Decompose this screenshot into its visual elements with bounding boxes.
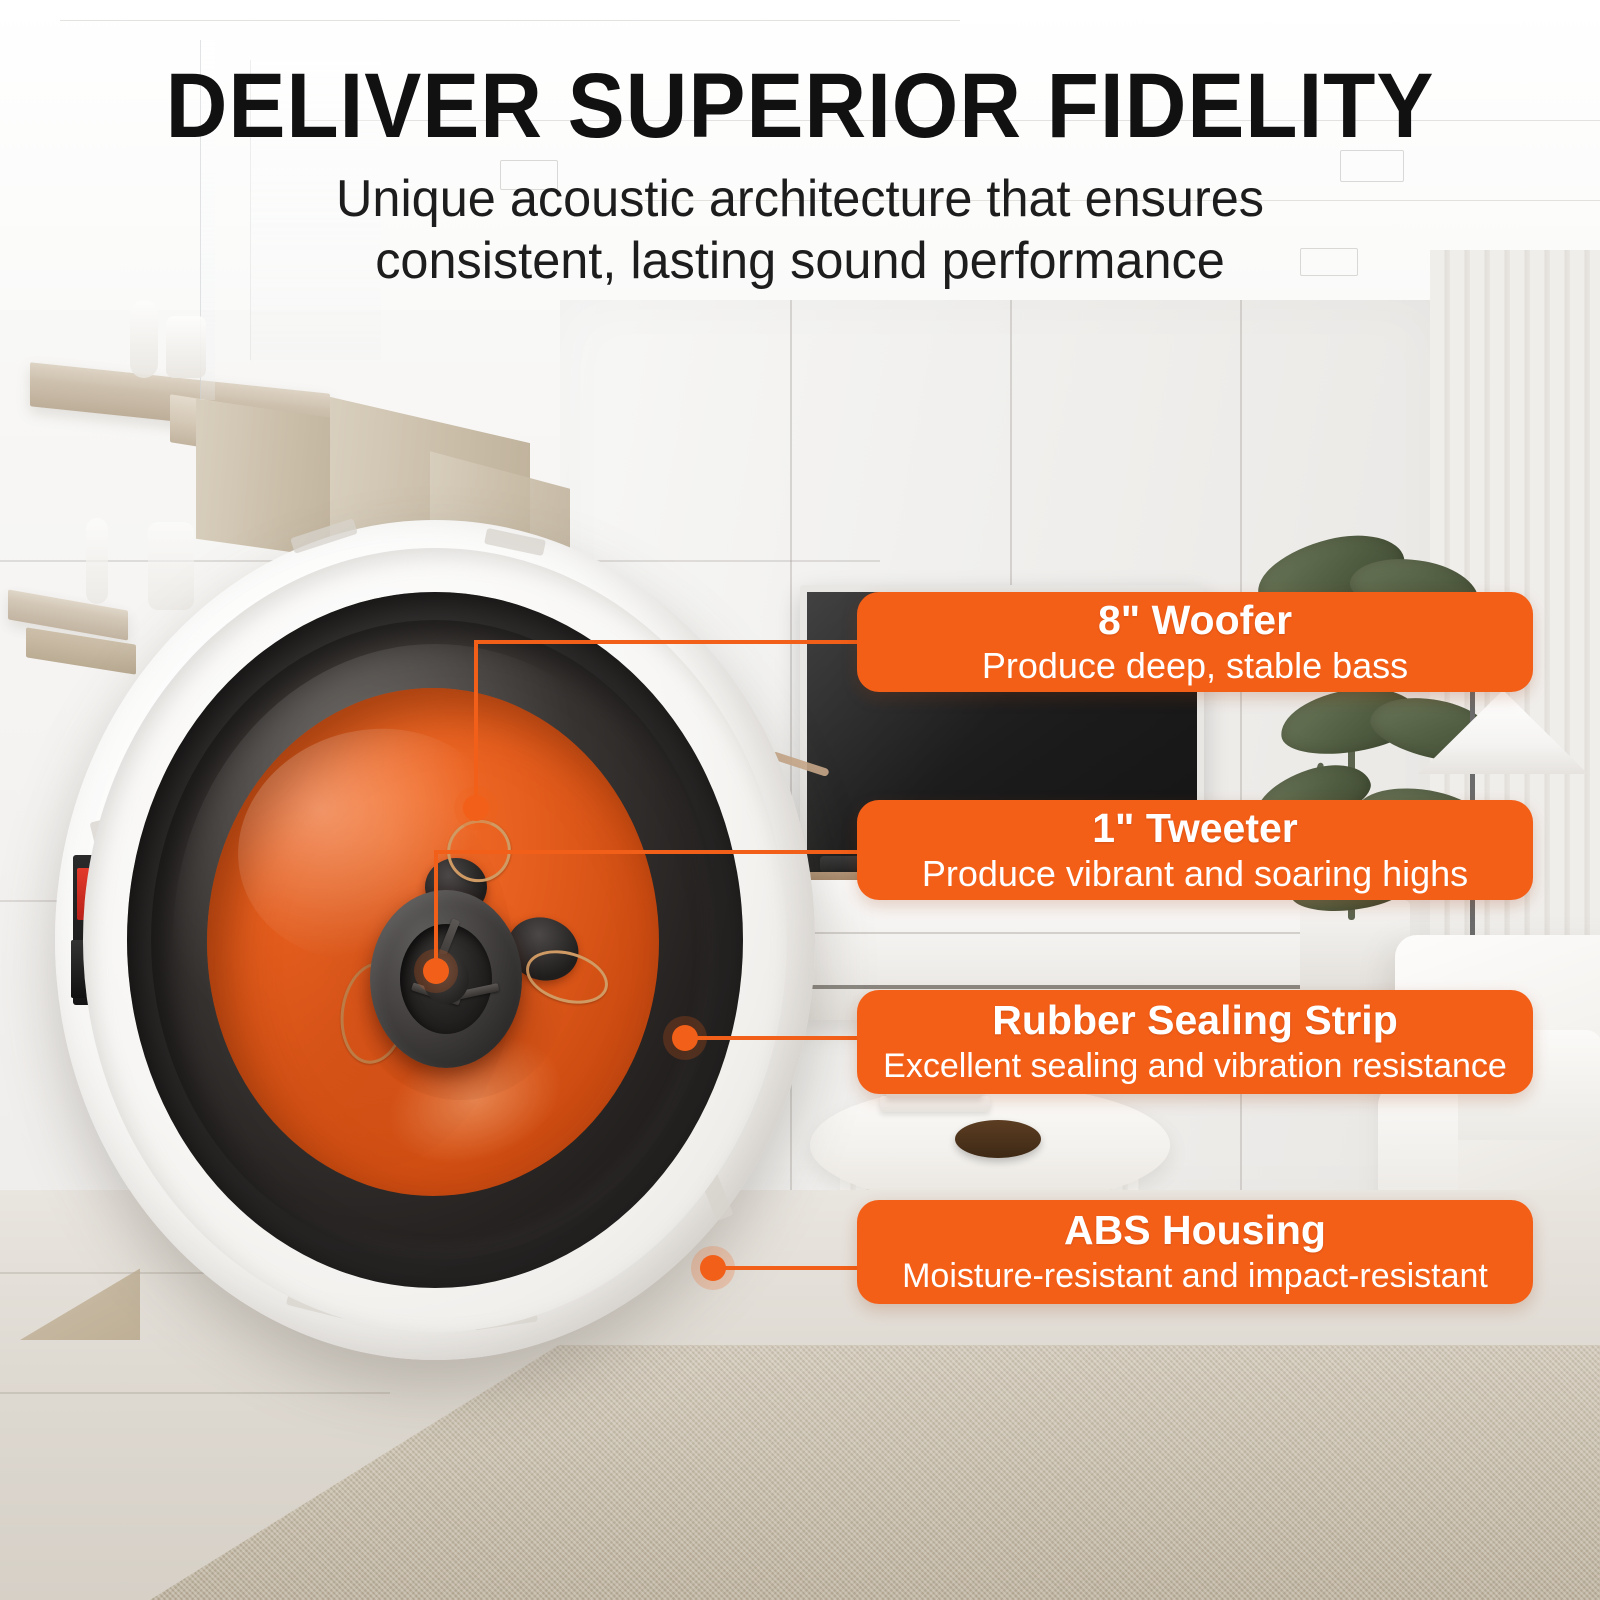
marker-dot-woofer [463, 795, 489, 821]
page-subtitle-line-1: Unique acoustic architecture that ensure… [24, 168, 1576, 230]
leader-line-abs-housing [718, 1266, 870, 1270]
shelf-decor-vase [130, 300, 158, 378]
leader-line-tweeter-horizontal [434, 850, 864, 854]
callout-rubber-sealing-strip[interactable]: Rubber Sealing Strip Excellent sealing a… [857, 990, 1533, 1094]
callout-woofer-desc: Produce deep, stable bass [982, 644, 1408, 688]
callout-abs-title: ABS Housing [1064, 1206, 1326, 1254]
marker-dot-rubber-strip [672, 1025, 698, 1051]
table-bowl [955, 1120, 1041, 1158]
callout-tweeter[interactable]: 1" Tweeter Produce vibrant and soaring h… [857, 800, 1533, 900]
header-block: DELIVER SUPERIOR FIDELITY Unique acousti… [0, 0, 1600, 292]
callout-tweeter-desc: Produce vibrant and soaring highs [922, 852, 1468, 896]
callout-woofer[interactable]: 8" Woofer Produce deep, stable bass [857, 592, 1533, 692]
callout-tweeter-title: 1" Tweeter [1092, 804, 1298, 852]
tile-seam [0, 1392, 390, 1394]
callout-abs-housing[interactable]: ABS Housing Moisture-resistant and impac… [857, 1200, 1533, 1304]
leader-line-woofer-vertical [474, 640, 478, 812]
infographic-canvas: DELIVER SUPERIOR FIDELITY Unique acousti… [0, 0, 1600, 1600]
callout-rubber-title: Rubber Sealing Strip [992, 996, 1398, 1044]
table-book [880, 1096, 990, 1112]
leader-line-tweeter-vertical [434, 850, 438, 974]
callout-abs-desc: Moisture-resistant and impact-resistant [902, 1254, 1488, 1298]
leader-line-rubber-strip [690, 1036, 870, 1040]
page-title: DELIVER SUPERIOR FIDELITY [56, 58, 1544, 154]
page-subtitle-line-2: consistent, lasting sound performance [24, 230, 1576, 292]
marker-dot-abs-housing [700, 1255, 726, 1281]
marker-dot-tweeter [423, 958, 449, 984]
in-ceiling-speaker [55, 520, 845, 1380]
callout-rubber-desc: Excellent sealing and vibration resistan… [883, 1044, 1507, 1088]
callout-woofer-title: 8" Woofer [1098, 596, 1292, 644]
shelf-decor-box [166, 316, 206, 378]
console-drawer-seam [800, 985, 1300, 989]
console-drawer-seam [800, 932, 1300, 934]
leader-line-woofer-horizontal [474, 640, 864, 644]
